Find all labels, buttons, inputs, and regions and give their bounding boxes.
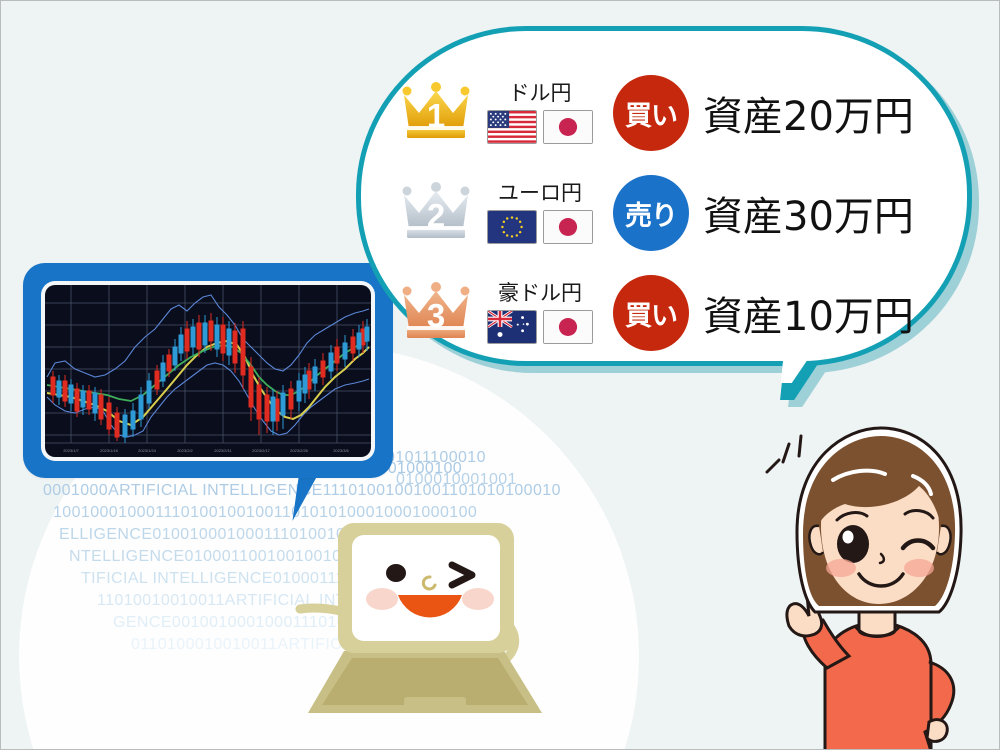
- ranking-row[interactable]: 1 ドル円: [399, 63, 959, 163]
- svg-text:2023/2/26: 2023/2/26: [290, 448, 309, 453]
- jp-flag-icon: [543, 310, 593, 344]
- robot-left-eye: [386, 564, 406, 582]
- bronze-crown-icon: 3: [399, 282, 473, 344]
- currency-pair-label: ドル円: [481, 83, 599, 104]
- woman-left-cheek: [826, 559, 856, 577]
- asset-amount-text: 資産10万円: [703, 284, 914, 342]
- laptop-robot-character: [286, 501, 576, 750]
- trade-side-badge[interactable]: 買い: [613, 275, 689, 351]
- trade-side-badge[interactable]: 買い: [613, 75, 689, 151]
- chart-frame: 2023/1/7 2023/1/16 2023/1/24 2023/2/2 20…: [41, 281, 375, 461]
- woman-shirt: [825, 622, 931, 750]
- robot-left-cheek: [366, 588, 398, 610]
- flag-pair: [481, 210, 599, 244]
- flag-pair: [481, 310, 599, 344]
- currency-pair-label: ユーロ円: [481, 183, 599, 204]
- au-flag-icon: [487, 310, 537, 344]
- currency-pair-block: ユーロ円: [481, 183, 599, 244]
- woman-right-cheek: [904, 559, 934, 577]
- binary-line: 01011100010: [386, 449, 486, 467]
- silver-crown-icon: 2: [399, 182, 473, 244]
- emphasis-lines: [767, 436, 801, 472]
- chart-svg: 2023/1/7 2023/1/16 2023/1/24 2023/2/2 20…: [45, 285, 371, 457]
- svg-text:2023/1/16: 2023/1/16: [100, 448, 119, 453]
- currency-pair-block: ドル円: [481, 83, 599, 144]
- illustration-canvas: 0100010001110100100100110101010001011100…: [0, 0, 1000, 750]
- eu-flag-icon: [487, 210, 537, 244]
- woman-hip-hand: [927, 720, 947, 742]
- svg-text:2023/2/11: 2023/2/11: [214, 448, 232, 453]
- svg-text:2023/1/7: 2023/1/7: [63, 448, 79, 453]
- gold-crown-icon: 1: [399, 82, 473, 144]
- currency-ranking-list: 1 ドル円: [399, 63, 959, 363]
- svg-text:1: 1: [427, 97, 445, 134]
- currency-pair-label: 豪ドル円: [481, 283, 599, 304]
- svg-text:2023/2/17: 2023/2/17: [252, 448, 271, 453]
- fx-candlestick-chart: 2023/1/7 2023/1/16 2023/1/24 2023/2/2 20…: [45, 285, 371, 457]
- svg-text:2023/1/24: 2023/1/24: [138, 448, 157, 453]
- chart-speech-bubble: 2023/1/7 2023/1/16 2023/1/24 2023/2/2 20…: [23, 263, 393, 478]
- trade-side-badge[interactable]: 売り: [613, 175, 689, 251]
- ranking-row[interactable]: 3 豪ドル円: [399, 263, 959, 363]
- ranking-row[interactable]: 2 ユーロ円: [399, 163, 959, 263]
- us-flag-icon: [487, 110, 537, 144]
- flag-pair: [481, 110, 599, 144]
- svg-text:3: 3: [427, 297, 445, 334]
- pointing-woman-character: [753, 416, 1000, 750]
- currency-pair-block: 豪ドル円: [481, 283, 599, 344]
- jp-flag-icon: [543, 110, 593, 144]
- candlestick-series: [51, 313, 369, 443]
- svg-text:2023/3/6: 2023/3/6: [333, 448, 349, 453]
- svg-text:2: 2: [427, 197, 445, 234]
- asset-amount-text: 資産30万円: [703, 184, 914, 242]
- svg-text:2023/2/2: 2023/2/2: [177, 448, 193, 453]
- chart-x-axis-labels: 2023/1/7 2023/1/16 2023/1/24 2023/2/2 20…: [63, 448, 349, 453]
- robot-right-cheek: [462, 588, 494, 610]
- jp-flag-icon: [543, 210, 593, 244]
- robot-touchpad: [404, 697, 466, 709]
- asset-amount-text: 資産20万円: [703, 84, 914, 142]
- binary-line: 0100010001001: [396, 471, 517, 489]
- woman-left-eye: [837, 525, 869, 563]
